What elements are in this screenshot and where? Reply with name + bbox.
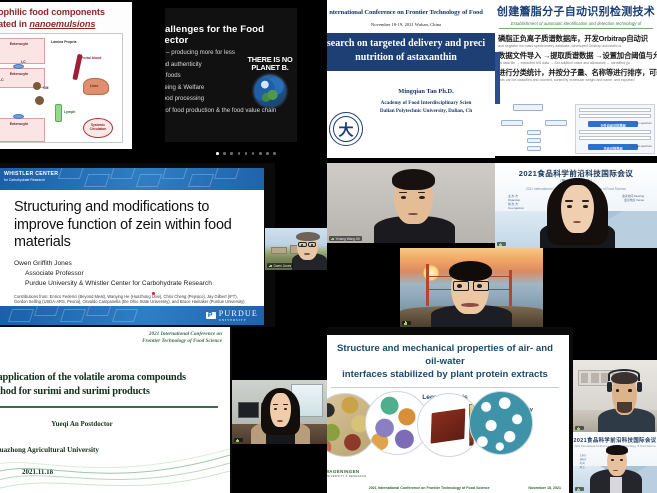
title-line-1: nd application of the volatile aroma com…: [0, 371, 224, 385]
participant-name-tag: Yixiang Wang-SK: [329, 236, 362, 241]
slide-surimi: 2021 International Conference on Frontie…: [0, 327, 230, 493]
speaker-name: Mingqian Tan Ph.D.: [327, 71, 495, 95]
flow-node-root: [513, 104, 543, 111]
presenter-block: Owen Griffith Jones Associate Professor …: [14, 260, 250, 287]
eye-left: [611, 459, 614, 461]
participant-name-tag: Owen Jones: [267, 263, 293, 268]
liver-label: Liver: [90, 84, 98, 88]
flow-node-b: [545, 120, 567, 126]
lymph-vessel: [55, 104, 62, 122]
brow-right: [418, 192, 426, 193]
slide-title: Structuring and modifications to improve…: [14, 199, 250, 252]
lamina-propria-label: Lamina Propria: [51, 40, 79, 44]
camera-tile-woman-office[interactable]: [232, 380, 327, 444]
title-line-2: method for surimi and surimi products: [0, 385, 224, 399]
presenter-name: Owen Griffith Jones: [14, 260, 250, 267]
pager-dot-7[interactable]: [259, 152, 262, 155]
enterocyte-diagram: Enterocyte Enterocyte Enterocyte Lamina …: [0, 33, 123, 143]
head: [561, 185, 593, 233]
flow-node-e: [527, 146, 541, 151]
flow-node-d: [527, 138, 541, 143]
slide-footer-band: P PURDUE UNIVERSITY: [0, 306, 264, 325]
presenter-name: Yueqi An Postdoctor: [0, 408, 230, 428]
title-line-1: Structure and mechanical properties of a…: [329, 342, 561, 368]
hair: [449, 261, 492, 282]
slide-title-band: search on targeted delivery and preci nu…: [327, 33, 495, 71]
headphone-cup-right: [637, 382, 642, 393]
participant-name-tag: [497, 242, 506, 246]
shirt: [610, 477, 622, 493]
pager-dot-5[interactable]: [245, 152, 248, 155]
microphone-icon: [577, 487, 580, 490]
lc-label-mid: LC: [0, 78, 4, 82]
participant-name-tag: [402, 321, 411, 325]
microphone-icon: [236, 438, 239, 441]
bridge-tower-left: [426, 264, 429, 307]
pager-dot-1[interactable]: [216, 152, 219, 155]
accent-bar: [495, 52, 500, 104]
row-1-cn: 数据文件导入 →提取质谱数据 →设置加合阈值与允差 →识别（判断样品: [498, 50, 654, 61]
flow-node-a: [501, 120, 523, 126]
hair: [392, 169, 436, 190]
content-row-0: 磷脂正负离子质谱数据库，开发Orbitrap自动识 and negative i…: [495, 31, 657, 48]
title-line-2: nutrition of astaxanthin: [327, 51, 491, 65]
lymph-label: Lymph: [64, 110, 75, 114]
brand-subtitle: UNIVERSITY & RESEARCH: [327, 474, 367, 479]
conf-line-2: Frontier Technology of Food Science: [0, 338, 222, 345]
head: [270, 393, 291, 428]
nucleus-bottom: [13, 114, 24, 119]
pane-zein[interactable]: WHISTLER CENTER for Carbohydrate Researc…: [0, 163, 275, 327]
participant-name: Yixiang Wang-SK: [336, 237, 361, 241]
flow-node-c: [527, 130, 541, 135]
pager-dot-4[interactable]: [238, 152, 241, 155]
eye-left: [457, 284, 462, 287]
panel-label-manual: Manual spectrum: [631, 144, 652, 148]
slide-title: Structure and mechanical properties of a…: [327, 335, 569, 381]
pager-dot-2[interactable]: [223, 152, 226, 155]
camera-tile-man-grey-wall[interactable]: Yixiang Wang-SK: [327, 163, 495, 243]
figure-circles: 43.0: [327, 389, 513, 461]
pane-phospholipid[interactable]: 创建簷脂分子自动识别检测技术 Establishment of automati…: [495, 0, 657, 163]
eye-left: [274, 408, 277, 411]
camera-tile-owen-jones[interactable]: Owen Jones: [265, 228, 327, 270]
hair: [296, 232, 320, 241]
pager-dot-9[interactable]: [273, 152, 276, 155]
eye-right: [311, 244, 313, 246]
pane-astaxanthin[interactable]: nternational Conference on Frontier Tech…: [327, 0, 495, 163]
slide-footer: . 2021 International Conference on Front…: [327, 486, 569, 490]
nucleus-top: [13, 64, 24, 69]
footer-conference: 2021 International Conference on Frontie…: [369, 486, 490, 490]
chylomicron-1: [33, 82, 41, 90]
afm-surface: [431, 408, 466, 443]
affiliation-line-1: Academy of Food Interdisciplinary Scien: [357, 99, 495, 107]
slide-title-line2-pre: ulated in: [0, 19, 29, 29]
slide-title-line1: ipophilic food components: [0, 7, 128, 19]
slide-pager-dots[interactable]: [165, 152, 327, 155]
microphone-icon: [331, 237, 334, 240]
panel-field-2: [579, 114, 651, 118]
presenter-role: Associate Professor: [25, 270, 250, 277]
eye-right: [628, 389, 631, 392]
monitor-1: [238, 402, 259, 419]
panel-field-3: [579, 130, 651, 134]
microphone-icon: [269, 264, 272, 267]
row-2-cn: 进行分类统计，并按分子量、名称等进行排序，可输出至Excel: [498, 67, 654, 78]
bg-right-text: 会议时间 Meeting会议地点 Venue: [622, 194, 644, 202]
conference-date-location: November 18-19, 2021 Wuhan, China: [327, 16, 495, 27]
panel-label-file: File spectrum: [635, 121, 652, 125]
pane-interfaces[interactable]: Structure and mechanical properties of a…: [327, 327, 573, 493]
beard: [617, 402, 632, 414]
eye-right: [477, 284, 482, 287]
earth-icon: [254, 75, 286, 107]
university-seal-icon: 大: [329, 112, 363, 146]
camera-tile-woman-conference-bg[interactable]: 2021食品科学前沿科技国际会议 （第二届学术研讨会） 2021 Interna…: [495, 163, 657, 248]
poster-line-2: PLANET B.: [247, 64, 293, 72]
pane-surimi[interactable]: 2021 International Conference on Frontie…: [0, 327, 232, 493]
flowchart-diagram: [501, 104, 573, 152]
decorative-waves: [0, 437, 230, 493]
participant-name-tag: [575, 487, 584, 491]
eye-right: [583, 205, 588, 208]
eye-left: [616, 389, 619, 392]
org-subtitle: for Carbohydrate Research: [4, 177, 58, 183]
wageningen-logo: WAGENINGEN UNIVERSITY & RESEARCH: [327, 469, 367, 479]
row-0-cn: 磷脂正负离子质谱数据库，开发Orbitrap自动识: [498, 33, 654, 44]
eye-right: [620, 459, 623, 461]
portal-blood-label: Portal blood: [81, 56, 101, 60]
bullet-5: ty of food production & the food value c…: [165, 106, 291, 116]
microphone-icon: [404, 321, 407, 324]
pager-dot-6[interactable]: [252, 152, 255, 155]
slide-nanoemulsions: ipophilic food components ulated in nano…: [0, 2, 132, 149]
laser-pointer-dot: [152, 292, 155, 295]
presenter-institution: Purdue University & Whistler Center for …: [25, 280, 250, 287]
camera-tile-man-suit[interactable]: 2021食品科学前沿科技国际会议 2021 International Conf…: [573, 432, 657, 493]
conf-line-1: 2021 International Conference on: [0, 331, 222, 338]
cm-label: CM: [43, 86, 48, 90]
conference-gallery-grid: ipophilic food components ulated in nano…: [0, 0, 657, 493]
participant-name-tag: [234, 438, 243, 442]
slide-zein: WHISTLER CENTER for Carbohydrate Researc…: [0, 168, 264, 325]
pane-food-sector[interactable]: hallenges for the Food sector re – produ…: [165, 0, 327, 163]
planet-b-poster: THERE IS NO PLANET B.: [247, 56, 293, 107]
footer-date: November 18, 2021: [528, 486, 561, 490]
lc-label-top: LC: [21, 60, 26, 64]
brow-left: [565, 200, 572, 201]
systemic-circulation-label: Systemic Circulation: [83, 118, 113, 138]
slide-phospholipid: 创建簷脂分子自动识别检测技术 Establishment of automati…: [495, 0, 657, 156]
conference-name: nternational Conference on Frontier Tech…: [327, 0, 495, 16]
brow-right: [582, 200, 589, 201]
bridge-tower-right: [509, 270, 512, 306]
camera-tile-man-headphones[interactable]: [573, 360, 657, 432]
microphone-icon: [577, 426, 580, 429]
slide-astaxanthin: nternational Conference on Frontier Tech…: [327, 0, 495, 158]
slide-header-band: WHISTLER CENTER for Carbohydrate Researc…: [0, 168, 264, 190]
slide-body: Structuring and modifications to improve…: [0, 190, 264, 305]
bg-left-text: 主 办 方Organizer协 办 方Co-organizer: [508, 194, 524, 210]
pane-nanoemulsions[interactable]: ipophilic food components ulated in nano…: [0, 0, 165, 163]
software-screenshot: 文件自动识别界面 File spectrum 手动识别界面 Manual spe…: [575, 104, 655, 154]
camera-tile-active-speaker[interactable]: [400, 248, 543, 327]
pager-dot-3[interactable]: [230, 152, 233, 155]
slide-food-sector: hallenges for the Food sector re – produ…: [165, 8, 297, 142]
slide-title: nd application of the volatile aroma com…: [0, 345, 230, 398]
building-left: [271, 247, 287, 254]
panel-field-4: [579, 136, 651, 140]
bg-title-cn: 2021食品科学前沿科技国际会议: [573, 436, 657, 444]
mouth: [277, 420, 284, 422]
slide-subtitle-en: Establishment of automatic identificatio…: [495, 19, 657, 26]
affiliation-line-2: Dalian Polytechnic University, Dalian, C…: [357, 107, 495, 115]
participant-name-tag: [575, 426, 584, 430]
afm-scale-label: 43.0: [472, 397, 477, 401]
conference-header: 2021 International Conference on Frontie…: [0, 327, 230, 345]
eye-right: [419, 196, 424, 199]
hair: [606, 445, 628, 455]
pager-dot-8[interactable]: [266, 152, 269, 155]
content-row-2: 进行分类统计，并按分子量、名称等进行排序，可输出至Excel ords can …: [495, 65, 657, 82]
title-line-2: interfaces stabilized by plant protein e…: [329, 368, 561, 381]
divider: [499, 28, 653, 29]
enterocyte-bottom-label: Enterocyte: [0, 118, 45, 142]
microphone-icon: [499, 242, 502, 245]
mouth: [408, 213, 418, 215]
slide-title-cn: 创建簷脂分子自动识别检测技术: [495, 0, 657, 19]
eye-left: [567, 205, 572, 208]
panel-button-auto[interactable]: 文件自动识别界面: [588, 121, 638, 127]
slide-title: ipophilic food components ulated in nano…: [0, 2, 132, 32]
headphone-cup-left: [607, 382, 612, 393]
participant-name: Owen Jones: [274, 264, 292, 268]
whistler-center-logo: WHISTLER CENTER for Carbohydrate Researc…: [4, 171, 58, 183]
row-2-en: ords can be classified and counted, sort…: [498, 78, 654, 82]
panel-field-1: [579, 108, 651, 112]
content-row-1: 数据文件导入 →提取质谱数据 →设置加合阈值与允差 →识别（判断样品 ed da…: [495, 48, 657, 65]
title-line-1: search on targeted delivery and preci: [327, 37, 491, 51]
slide-interfaces: Structure and mechanical properties of a…: [327, 335, 569, 493]
chylomicron-2: [35, 96, 44, 105]
mouth: [304, 253, 310, 255]
headphones-band-icon: [608, 369, 640, 381]
bg-left-text: 主办方协办方时 间地 点: [580, 454, 587, 470]
slide-title-line2-italic: nanoemulsions: [29, 19, 95, 29]
brow-left: [399, 192, 407, 193]
hex-pattern-footer: [0, 306, 264, 325]
circle-foam-micrograph: [469, 391, 533, 455]
slide-heading: hallenges for the Food sector: [165, 8, 297, 46]
